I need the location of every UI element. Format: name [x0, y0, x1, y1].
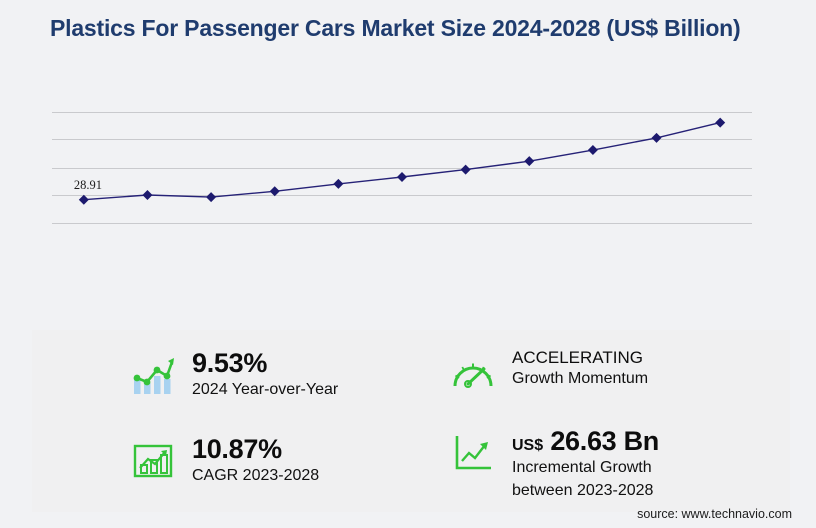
data-point-2027[interactable] [652, 133, 662, 143]
data-point-2020[interactable] [206, 192, 216, 202]
stat-value: 9.53% [192, 348, 338, 378]
stat-value: US$ 26.63 Bn [512, 426, 659, 456]
data-point-2028[interactable] [715, 118, 725, 128]
data-label-2018: 28.91 [74, 178, 102, 193]
stat-caption-line-2: between 2023-2028 [512, 481, 659, 502]
stat-unit: US$ [512, 437, 543, 454]
data-point-2021[interactable] [270, 186, 280, 196]
stat-value: ACCELERATING [512, 348, 648, 367]
stat-card-momentum: ACCELERATING Growth Momentum [450, 348, 648, 398]
stats-panel: 9.53% 2024 Year-over-Year ACCELERATING [32, 330, 790, 512]
bar-chart-arrow-icon [130, 438, 176, 484]
page-title: Plastics For Passenger Cars Market Size … [50, 14, 750, 43]
stat-caption: 2024 Year-over-Year [192, 380, 338, 401]
data-point-2019[interactable] [142, 190, 152, 200]
chart-series-plot [52, 95, 752, 338]
data-point-2023[interactable] [397, 172, 407, 182]
stat-card-incremental-growth: US$ 26.63 Bn Incremental Growth between … [450, 426, 659, 502]
stat-caption: CAGR 2023-2028 [192, 466, 319, 487]
stat-value: 10.87% [192, 434, 319, 464]
stat-text: 10.87% CAGR 2023-2028 [192, 434, 319, 487]
data-point-2026[interactable] [588, 145, 598, 155]
data-point-2025[interactable] [524, 156, 534, 166]
line-chart: 28.91 2018201920202021202220232024202520… [0, 95, 816, 285]
data-point-2024[interactable] [461, 165, 471, 175]
source-label: source: www.technavio.com [637, 507, 792, 521]
data-point-2022[interactable] [333, 179, 343, 189]
stat-card-yoy: 9.53% 2024 Year-over-Year [130, 348, 338, 401]
stat-caption-line-1: Incremental Growth [512, 458, 659, 479]
stat-caption: Growth Momentum [512, 369, 648, 390]
data-point-2018[interactable] [79, 195, 89, 205]
stat-text: 9.53% 2024 Year-over-Year [192, 348, 338, 401]
infographic-page: Plastics For Passenger Cars Market Size … [0, 0, 816, 528]
bar-line-growth-icon [130, 352, 176, 398]
stat-number: 26.63 Bn [550, 426, 659, 456]
speedometer-icon [450, 352, 496, 398]
stat-text: ACCELERATING Growth Momentum [512, 348, 648, 390]
stat-card-cagr: 10.87% CAGR 2023-2028 [130, 434, 319, 487]
stat-text: US$ 26.63 Bn Incremental Growth between … [512, 426, 659, 502]
line-chart-arrow-icon [450, 430, 496, 476]
chart-line [84, 123, 720, 200]
